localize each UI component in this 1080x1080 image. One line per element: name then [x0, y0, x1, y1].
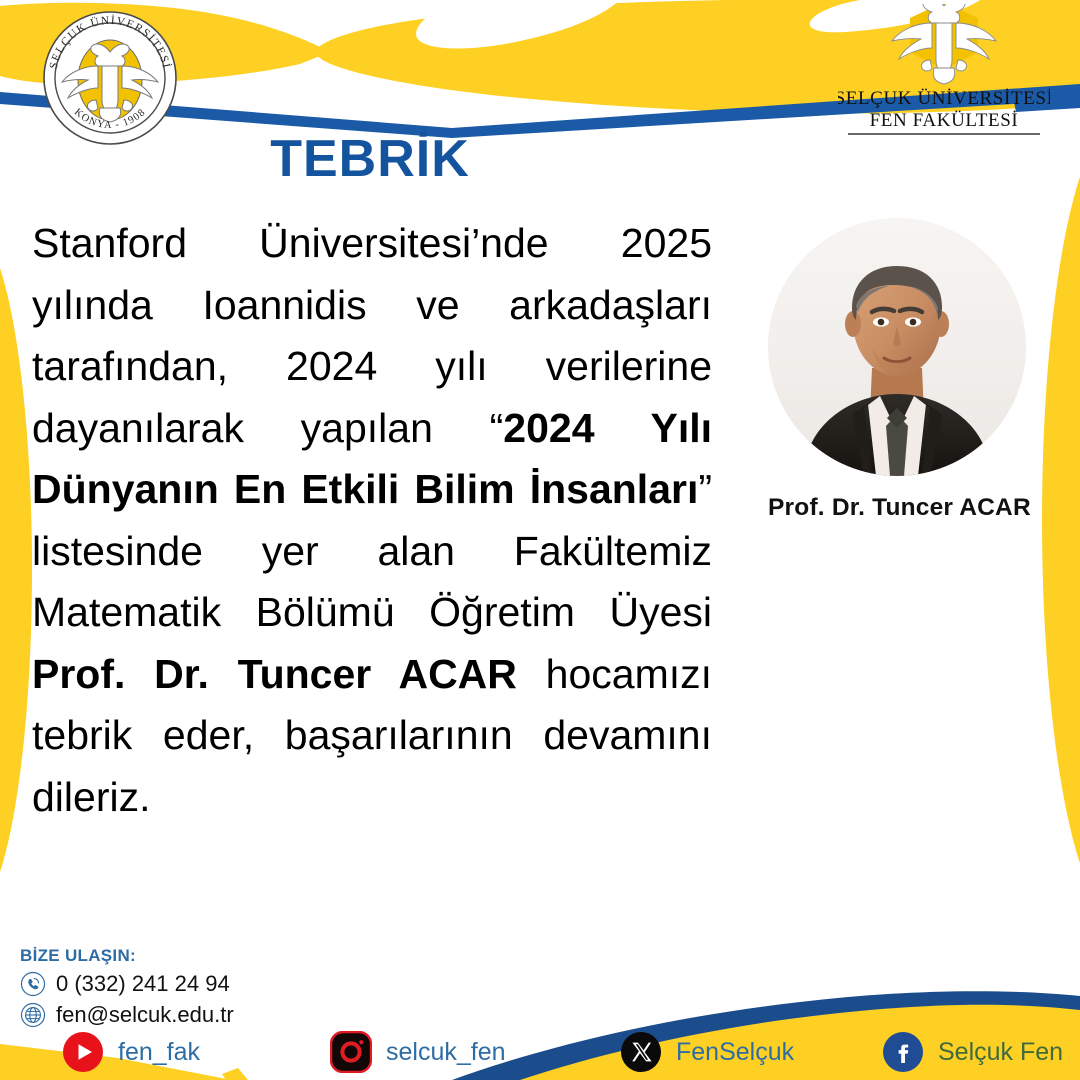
right-yellow-lens	[1042, 120, 1080, 920]
youtube-icon	[62, 1031, 104, 1073]
social-label-facebook: Selçuk Fen	[938, 1038, 1063, 1067]
contact-heading: BİZE ULAŞIN:	[20, 946, 440, 966]
contact-row-email[interactable]: fen@selcuk.edu.tr	[20, 1001, 440, 1029]
contact-phone-value: 0 (332) 241 24 94	[56, 970, 230, 998]
facebook-icon	[882, 1031, 924, 1073]
social-link-youtube[interactable]: fen_fak	[62, 1026, 200, 1078]
social-link-x-twitter[interactable]: FenSelçuk	[620, 1026, 794, 1078]
announcement-seg-3: Prof. Dr. Tuncer ACAR	[32, 651, 517, 697]
social-label-x-twitter: FenSelçuk	[676, 1038, 794, 1067]
portrait-caption: Prof. Dr. Tuncer ACAR	[768, 494, 1026, 522]
phone-icon	[20, 971, 46, 997]
university-seal-logo: SELÇUK ÜNİVERSİTESİ KONYA - 1908	[40, 8, 180, 148]
social-link-facebook[interactable]: Selçuk Fen	[882, 1026, 1063, 1078]
social-links: fen_fak selcuk_fen FenSelçuk Selçuk	[62, 1026, 1072, 1078]
portrait-photo	[768, 218, 1026, 476]
faculty-logo-line2: FEN FAKÜLTESİ	[870, 110, 1019, 131]
contact-block: BİZE ULAŞIN: 0 (332) 241 24 94 fen@selcu…	[20, 946, 440, 1032]
contact-row-phone[interactable]: 0 (332) 241 24 94	[20, 970, 440, 998]
left-yellow-crescent	[0, 230, 25, 918]
portrait-block: Prof. Dr. Tuncer ACAR	[768, 218, 1026, 568]
announcement-text: Stanford Üniversitesi’nde 2025 yılında I…	[32, 213, 712, 828]
faculty-logo: SELÇUK ÜNİVERSİTESİ FEN FAKÜLTESİ	[838, 4, 1050, 136]
poster-canvas: SELÇUK ÜNİVERSİTESİ KONYA - 1908	[0, 0, 1080, 1080]
page-title: TEBRİK	[0, 133, 740, 185]
x-twitter-icon	[620, 1031, 662, 1073]
top-white-notch	[416, 0, 620, 49]
contact-email-value: fen@selcuk.edu.tr	[56, 1001, 234, 1029]
instagram-icon	[330, 1031, 372, 1073]
faculty-logo-line1: SELÇUK ÜNİVERSİTESİ	[838, 88, 1050, 109]
left-yellow-lens	[0, 225, 32, 915]
globe-icon	[20, 1002, 46, 1028]
social-label-youtube: fen_fak	[118, 1038, 200, 1067]
social-label-instagram: selcuk_fen	[386, 1038, 506, 1067]
social-link-instagram[interactable]: selcuk_fen	[330, 1026, 506, 1078]
